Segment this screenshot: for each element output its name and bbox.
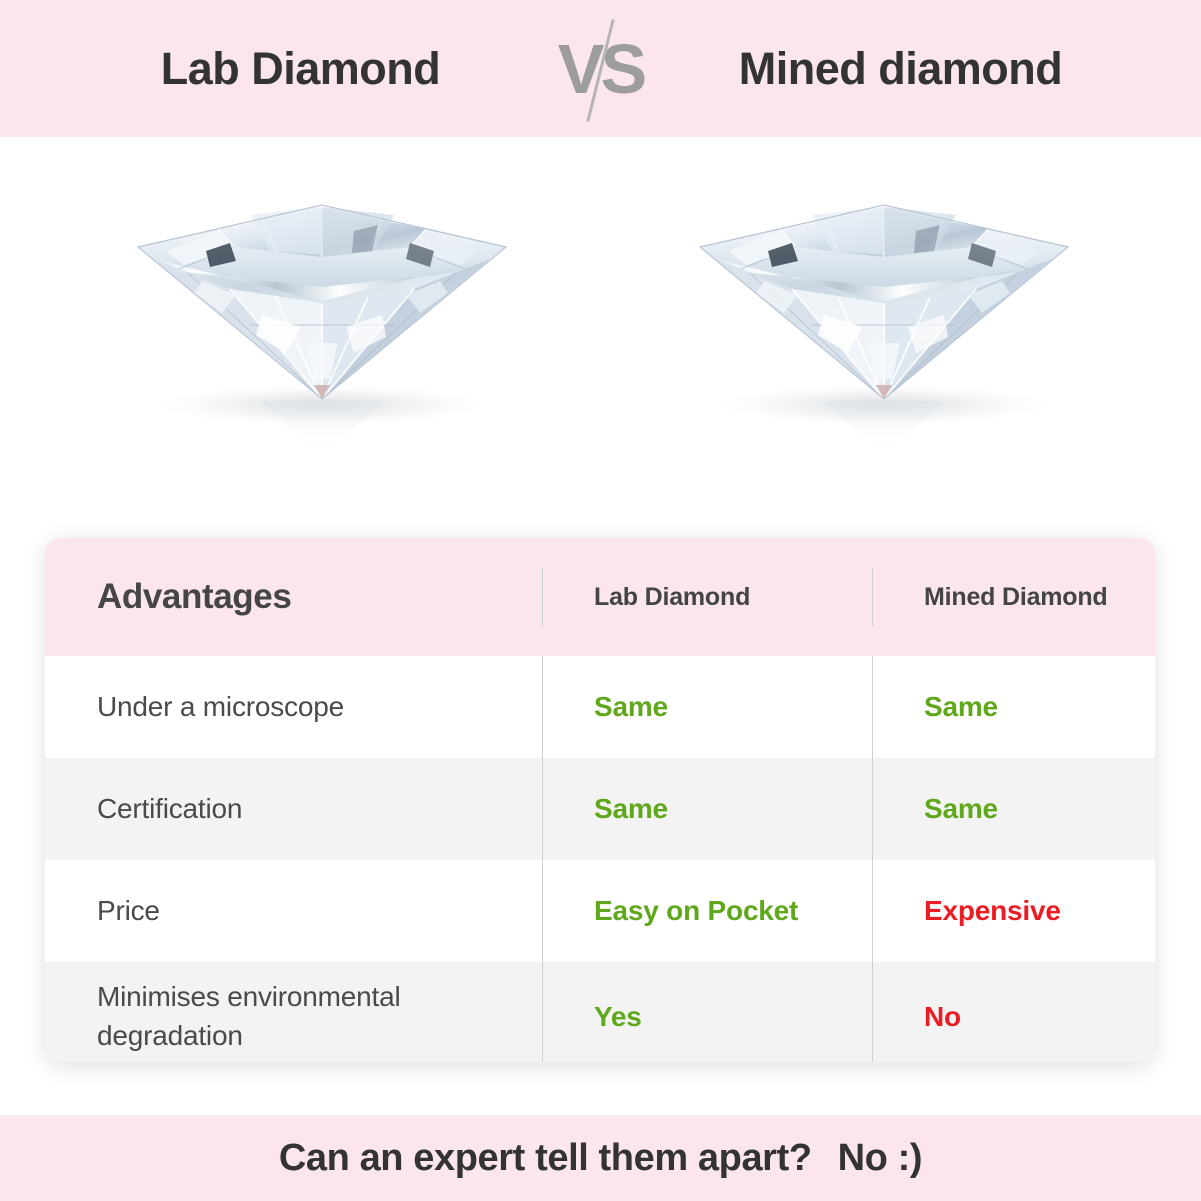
column-divider bbox=[872, 568, 873, 626]
feature-label: Under a microscope bbox=[97, 688, 344, 727]
diamond-showcase bbox=[0, 137, 1201, 527]
header-cell-mined-diamond: Mined Diamond bbox=[872, 538, 1155, 656]
comparison-table-card: Advantages Lab Diamond Mined Diamond Und… bbox=[45, 538, 1155, 1062]
column-divider bbox=[542, 568, 543, 626]
mined-value: Same bbox=[924, 691, 998, 723]
mined-value: Same bbox=[924, 793, 998, 825]
mined-value: Expensive bbox=[924, 895, 1061, 927]
row-feature-cell: Price bbox=[45, 860, 542, 962]
header-cell-lab-diamond: Lab Diamond bbox=[542, 538, 872, 656]
row-feature-cell: Certification bbox=[45, 758, 542, 860]
mined-diamond-image bbox=[672, 147, 1092, 487]
column-header-label: Advantages bbox=[97, 577, 291, 617]
row-feature-cell: Under a microscope bbox=[45, 656, 542, 758]
lab-value: Same bbox=[594, 793, 668, 825]
infographic-page: Lab Diamond VS Mined diamond bbox=[0, 0, 1201, 1201]
footer-question: Can an expert tell them apart? bbox=[279, 1137, 812, 1180]
header-cell-advantages: Advantages bbox=[45, 538, 542, 656]
row-feature-cell: Minimises environmental degradation bbox=[45, 962, 542, 1062]
table-row: Minimises environmental degradation Yes … bbox=[45, 962, 1155, 1062]
table-row: Under a microscope Same Same bbox=[45, 656, 1155, 758]
lab-value: Easy on Pocket bbox=[594, 895, 798, 927]
footer-answer: No :) bbox=[838, 1137, 923, 1180]
lab-value: Yes bbox=[594, 1001, 642, 1033]
lab-diamond-image bbox=[110, 147, 530, 487]
diamond-icon bbox=[110, 147, 530, 487]
feature-label: Price bbox=[97, 892, 160, 931]
table-row: Price Easy on Pocket Expensive bbox=[45, 860, 1155, 962]
feature-label: Minimises environmental degradation bbox=[97, 978, 542, 1055]
row-lab-cell: Easy on Pocket bbox=[542, 860, 872, 962]
table-header-row: Advantages Lab Diamond Mined Diamond bbox=[45, 538, 1155, 656]
row-lab-cell: Same bbox=[542, 656, 872, 758]
row-mined-cell: Expensive bbox=[872, 860, 1155, 962]
row-lab-cell: Same bbox=[542, 758, 872, 860]
row-lab-cell: Yes bbox=[542, 962, 872, 1062]
diamond-icon bbox=[672, 147, 1092, 487]
column-header-label: Mined Diamond bbox=[924, 583, 1108, 612]
footer-band: Can an expert tell them apart? No :) bbox=[0, 1115, 1201, 1201]
mined-value: No bbox=[924, 1001, 961, 1033]
header-left-title: Lab Diamond bbox=[61, 43, 541, 95]
table-row: Certification Same Same bbox=[45, 758, 1155, 860]
feature-label: Certification bbox=[97, 790, 242, 829]
versus-badge: VS bbox=[541, 0, 661, 137]
column-header-label: Lab Diamond bbox=[594, 583, 750, 612]
row-mined-cell: No bbox=[872, 962, 1155, 1062]
lab-value: Same bbox=[594, 691, 668, 723]
header-band: Lab Diamond VS Mined diamond bbox=[0, 0, 1201, 137]
row-mined-cell: Same bbox=[872, 656, 1155, 758]
row-mined-cell: Same bbox=[872, 758, 1155, 860]
header-right-title: Mined diamond bbox=[661, 43, 1141, 95]
